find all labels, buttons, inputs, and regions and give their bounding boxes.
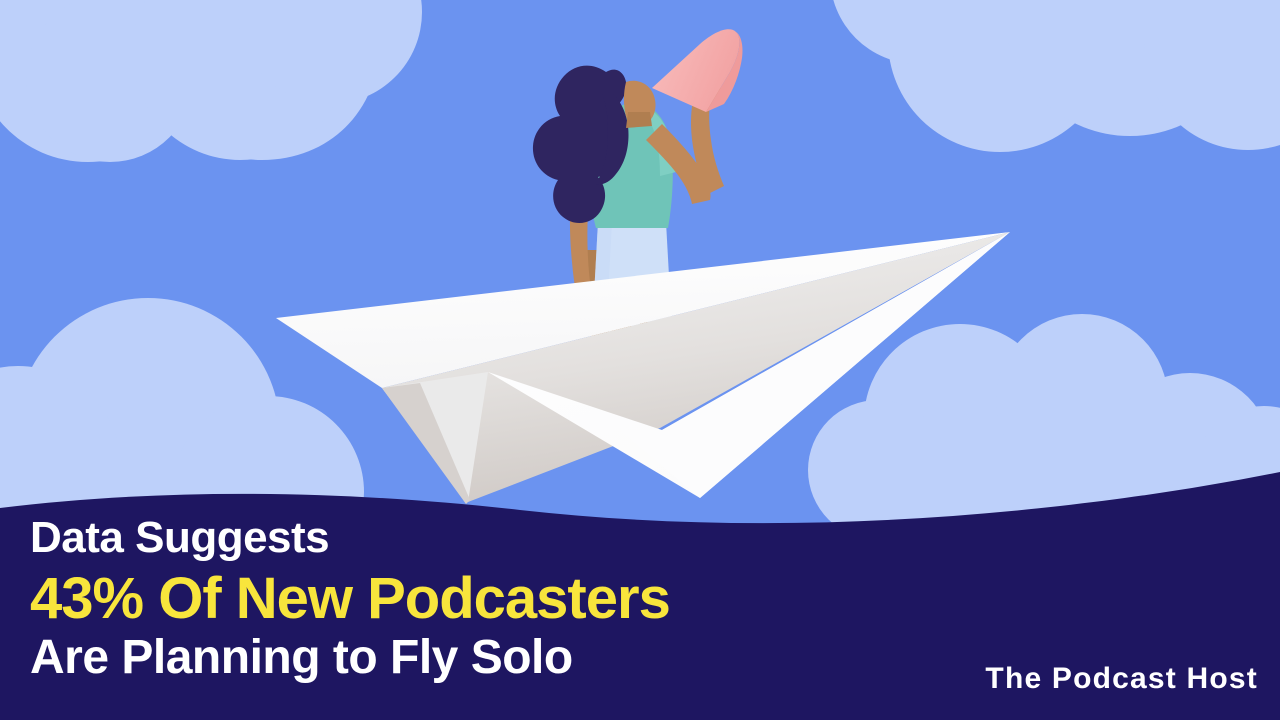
neck [626,112,652,128]
poster-canvas: Data Suggests 43% Of New Podcasters Are … [0,0,1280,720]
illustration-artwork [0,0,1280,720]
